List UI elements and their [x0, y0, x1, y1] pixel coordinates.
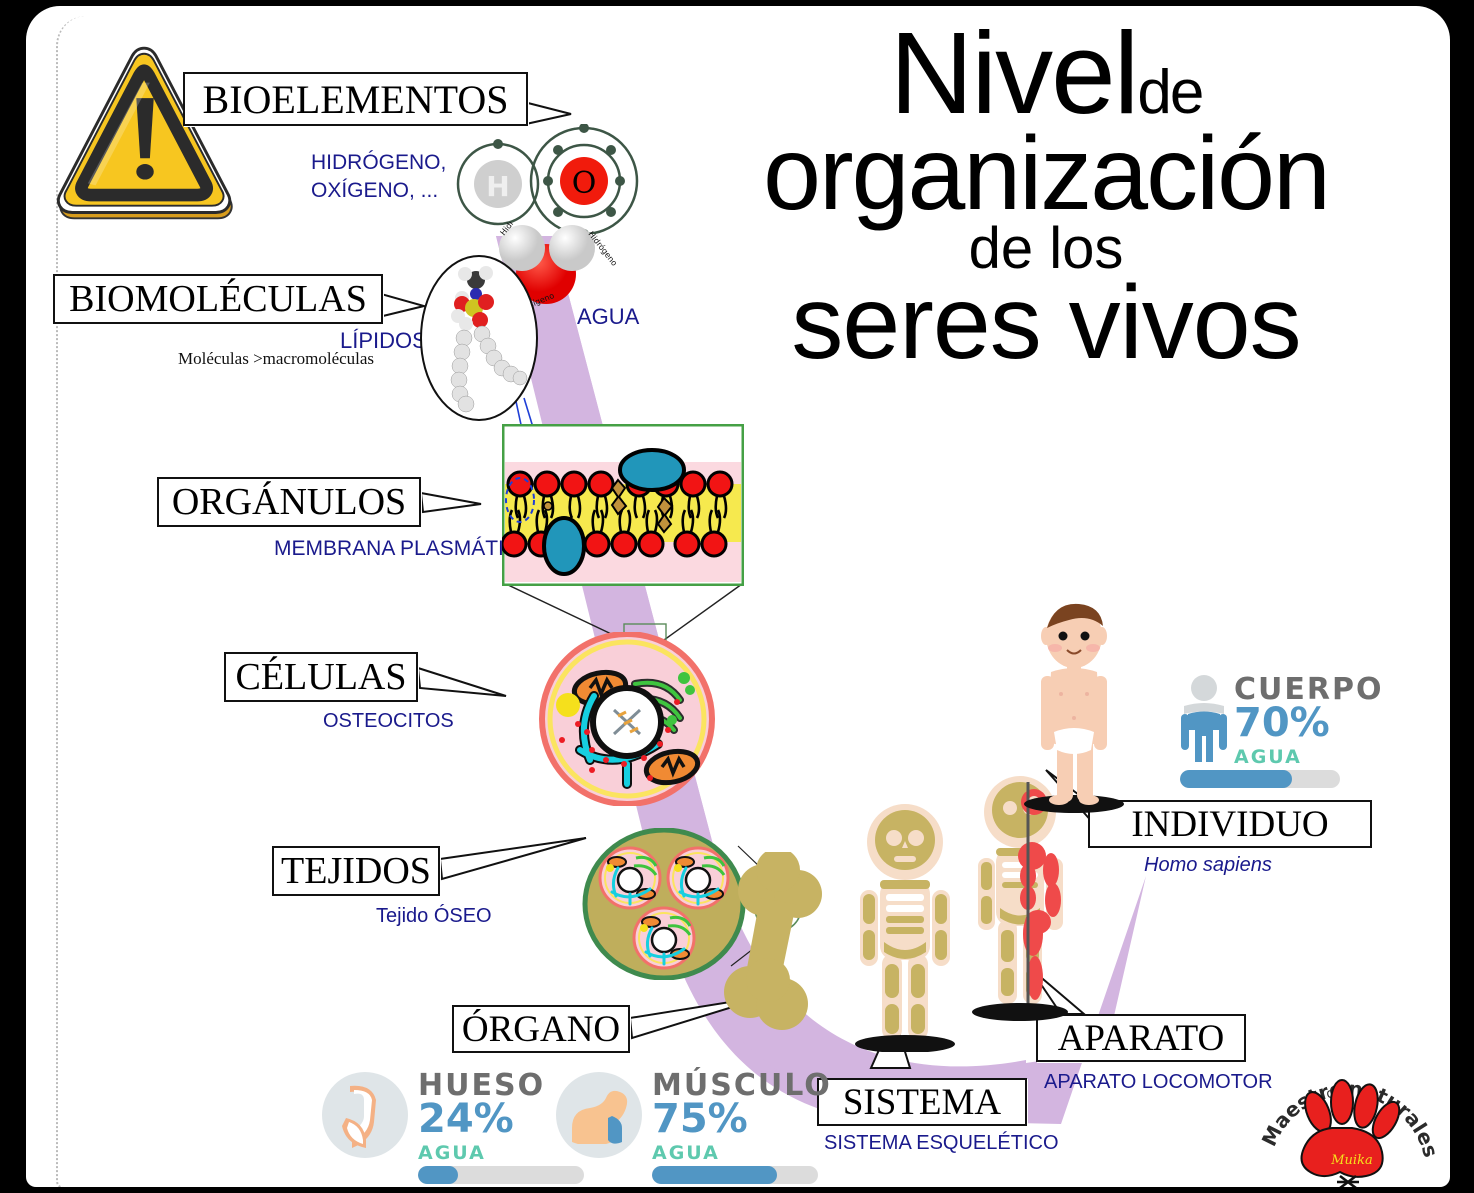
label-sistema-text: SISTEMA — [843, 1081, 1001, 1124]
label-aparato[interactable]: APARATO — [1036, 1014, 1246, 1062]
label-tejidos[interactable]: TEJIDOS — [272, 846, 440, 896]
svg-text:H: H — [486, 170, 509, 203]
sub-celulas: OSTEOCITOS — [323, 710, 454, 733]
title-line2: organización — [646, 127, 1446, 223]
water-stat-musculo: MÚSCULO 75% AGUA — [556, 1068, 836, 1187]
label-bioelementos-text: BIOELEMENTOS — [203, 76, 509, 123]
lipid-molecule — [418, 254, 540, 422]
frame-tick-bottom — [0, 228, 24, 231]
label-organo[interactable]: ÓRGANO — [452, 1005, 630, 1053]
atom-models: H O — [454, 124, 644, 234]
label-celulas-text: CÉLULAS — [236, 655, 407, 699]
label-biomoleculas-text: BIOMOLÉCULAS — [69, 277, 367, 321]
label-organo-text: ÓRGANO — [462, 1008, 620, 1051]
musculo-icon-bg — [556, 1072, 642, 1158]
svg-text:O: O — [572, 166, 597, 201]
title-line3: seres vivos — [646, 276, 1446, 372]
label-agua: AGUA — [577, 304, 639, 330]
animal-cell-diagram — [532, 632, 722, 806]
frame-tick-top — [0, 96, 24, 99]
svg-text:de: de — [1325, 1085, 1344, 1102]
sub-tejidos: Tejido ÓSEO — [376, 905, 492, 928]
cuerpo-progress-bar — [1180, 770, 1340, 788]
maestro-de-naturales-logo: Maestro de naturales Muika — [1258, 1052, 1438, 1187]
plasma-membrane-diagram — [502, 424, 744, 586]
warning-triangle-icon — [48, 38, 244, 228]
label-individuo-text: INDIVIDUO — [1131, 803, 1328, 846]
skeleton-figure-icon — [850, 802, 960, 1052]
label-tejidos-text: TEJIDOS — [281, 849, 431, 893]
water-stat-cuerpo: CUERPO 70% AGUA — [1172, 672, 1450, 792]
hueso-agua-label: AGUA — [418, 1142, 486, 1164]
water-h1-label: Hidrógeno — [498, 222, 531, 237]
bone-organ-icon — [716, 852, 846, 1032]
water-stat-hueso: HUESO 24% AGUA — [322, 1068, 592, 1187]
water-molecule-model: Hidrógeno Hidrógeno Oxígeno — [496, 222, 616, 314]
water-h2-label: Hidrógeno — [586, 229, 616, 268]
label-bioelementos[interactable]: BIOELEMENTOS — [183, 72, 528, 126]
cuerpo-percent: 70% — [1234, 700, 1330, 746]
sub-organulos: MEMBRANA PLASMÁTICA — [274, 537, 533, 561]
label-organulos[interactable]: ORGÁNULOS — [157, 477, 421, 527]
sub-aparato: APARATO LOCOMOTOR — [1044, 1071, 1273, 1094]
sub-bioelementos: HIDRÓGENO,OXÍGENO, ... — [311, 149, 446, 206]
frame-tick-spine — [0, 96, 3, 230]
sub-biomoleculas-note: Moléculas >macromoléculas — [178, 349, 374, 369]
poster-frame: Nivelde organización de los seres vivos — [0, 0, 1474, 1193]
logo-paw-text: Muika — [1330, 1153, 1372, 1168]
hueso-percent: 24% — [418, 1096, 514, 1142]
person-icon — [1176, 674, 1236, 770]
musculo-agua-label: AGUA — [652, 1142, 720, 1164]
locomotor-system-icon — [968, 772, 1084, 1022]
label-sistema[interactable]: SISTEMA — [817, 1078, 1027, 1126]
cuerpo-agua-label: AGUA — [1234, 746, 1302, 768]
label-biomoleculas[interactable]: BIOMOLÉCULAS — [53, 274, 383, 324]
musculo-percent: 75% — [652, 1096, 748, 1142]
musculo-progress-bar — [652, 1166, 818, 1184]
svg-text:naturales: naturales — [1348, 1076, 1438, 1160]
hueso-icon-bg — [322, 1072, 408, 1158]
page-title: Nivelde organización de los seres vivos — [646, 20, 1446, 371]
water-o-label: Oxígeno — [521, 291, 555, 312]
label-individuo[interactable]: INDIVIDUO — [1088, 800, 1372, 848]
individual-human-icon — [1021, 592, 1127, 822]
sub-individuo: Homo sapiens — [1144, 854, 1272, 877]
label-aparato-text: APARATO — [1058, 1017, 1225, 1060]
sub-sistema: SISTEMA ESQUELÉTICO — [824, 1132, 1059, 1155]
label-celulas[interactable]: CÉLULAS — [224, 652, 418, 702]
label-organulos-text: ORGÁNULOS — [172, 480, 406, 524]
bone-tissue-diagram — [582, 828, 746, 980]
poster-panel: Nivelde organización de los seres vivos — [26, 6, 1450, 1187]
